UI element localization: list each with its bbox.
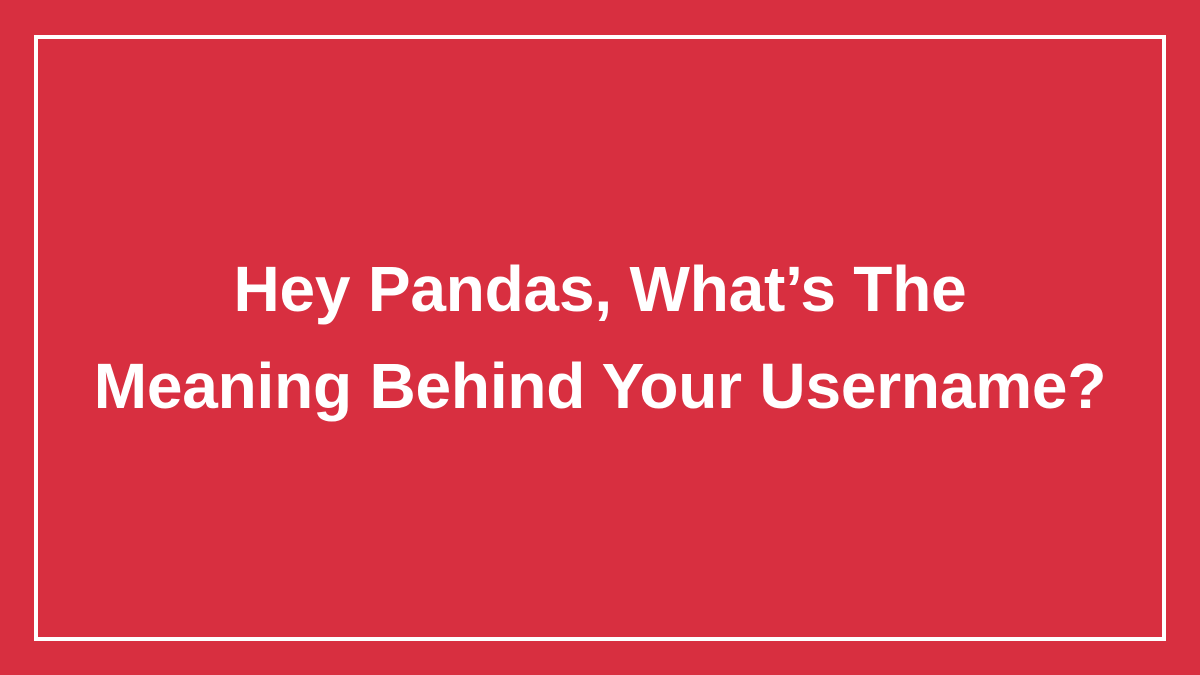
title-card: Hey Pandas, What’s The Meaning Behind Yo… [0,0,1200,675]
page-title: Hey Pandas, What’s The Meaning Behind Yo… [0,0,1200,675]
title-line-1: Hey Pandas, What’s The [46,241,1154,338]
title-line-2: Meaning Behind Your Username? [46,338,1154,435]
